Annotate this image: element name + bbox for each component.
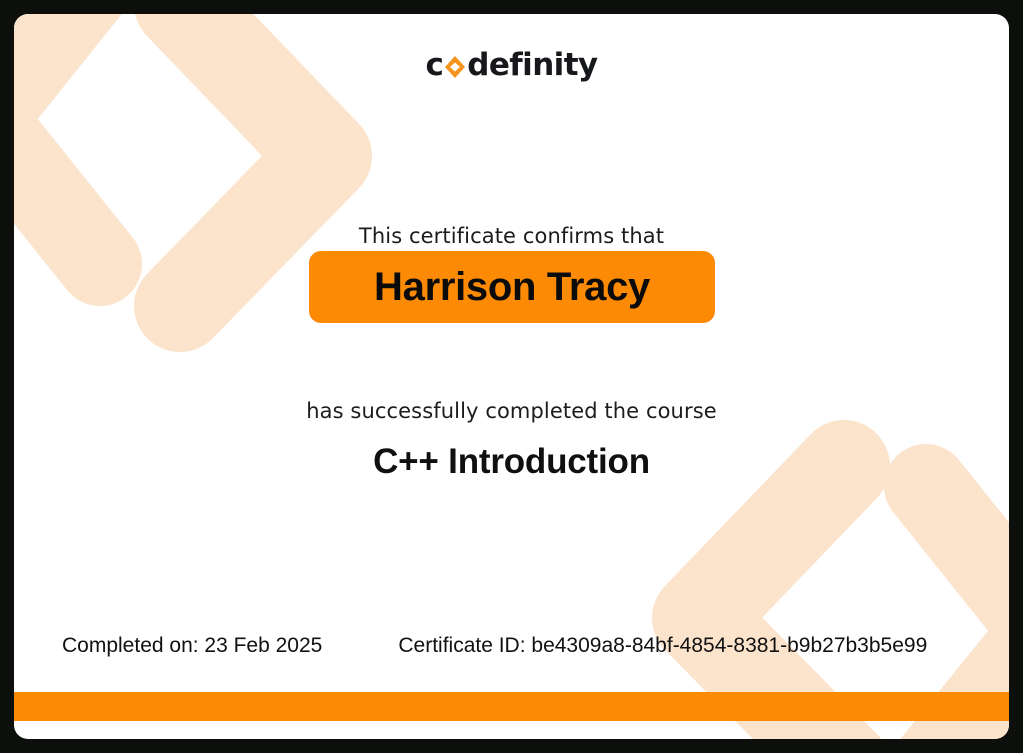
confirmation-line: This certificate confirms that	[14, 224, 1009, 248]
course-title: C++ Introduction	[14, 442, 1009, 482]
diamond-icon	[444, 54, 466, 80]
certificate-meta-row: Completed on: 23 Feb 2025 Certificate ID…	[62, 634, 975, 658]
completed-on-text: Completed on: 23 Feb 2025	[62, 634, 322, 658]
certificate-frame: c definity This certificate confirms tha…	[0, 0, 1023, 753]
logo-suffix-text: definity	[467, 50, 597, 81]
logo-prefix-text: c	[425, 50, 443, 81]
recipient-name-banner: Harrison Tracy	[309, 251, 715, 323]
brand-logo: c definity	[14, 50, 1009, 81]
recipient-name: Harrison Tracy	[374, 267, 650, 307]
certificate-card: c definity This certificate confirms tha…	[14, 14, 1009, 739]
certificate-id-text: Certificate ID: be4309a8-84bf-4854-8381-…	[398, 634, 927, 658]
course-completion-line: has successfully completed the course	[14, 399, 1009, 423]
footer-accent-bar	[14, 692, 1009, 721]
